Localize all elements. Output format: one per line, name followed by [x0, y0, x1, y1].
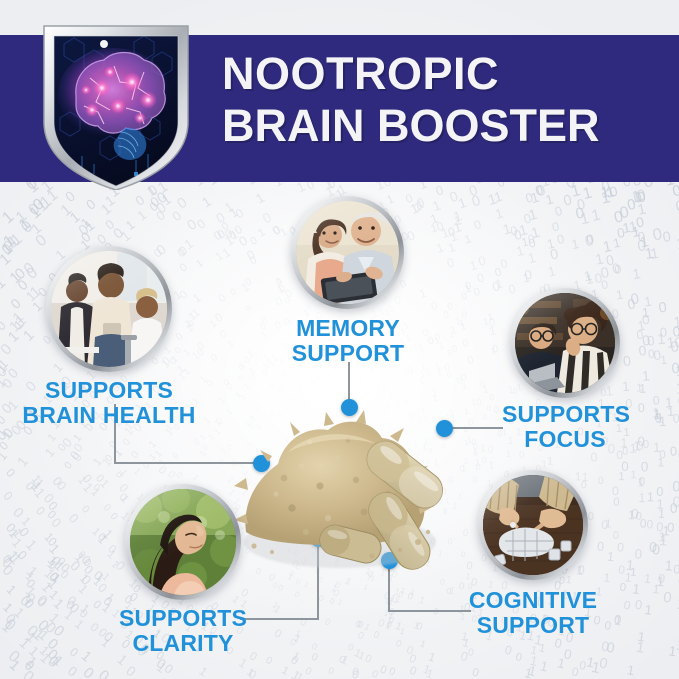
svg-text:1: 1: [78, 648, 94, 665]
svg-text:1: 1: [427, 650, 438, 665]
svg-text:0: 0: [309, 652, 319, 665]
svg-text:1: 1: [20, 327, 38, 345]
svg-text:0: 0: [477, 254, 488, 269]
svg-text:1: 1: [638, 490, 646, 505]
svg-text:0: 0: [171, 451, 181, 461]
svg-text:0: 0: [635, 511, 642, 523]
svg-text:1: 1: [631, 266, 641, 283]
svg-text:0: 0: [563, 646, 573, 662]
hands-assembling-jigsaw-puzzle-photo: [483, 475, 583, 575]
svg-text:1: 1: [324, 369, 333, 380]
svg-text:1: 1: [544, 191, 555, 207]
svg-text:0: 0: [662, 590, 672, 607]
svg-text:1: 1: [656, 497, 664, 512]
svg-text:0: 0: [675, 198, 679, 215]
svg-text:0: 0: [370, 669, 380, 679]
svg-text:0: 0: [667, 520, 675, 535]
svg-text:1: 1: [631, 580, 641, 597]
benefit-label-memory-support: MEMORY SUPPORT: [258, 316, 438, 366]
svg-text:0: 0: [598, 475, 604, 487]
benefit-photo-circle-memory-support[interactable]: [291, 196, 404, 309]
svg-text:0: 0: [634, 546, 643, 562]
svg-text:1: 1: [225, 338, 236, 350]
svg-text:0: 0: [0, 489, 15, 503]
svg-text:1: 1: [675, 363, 679, 380]
svg-text:1: 1: [643, 571, 651, 586]
svg-text:0: 0: [228, 286, 239, 298]
svg-text:1: 1: [546, 236, 557, 252]
svg-text:1: 1: [641, 368, 650, 384]
svg-text:0: 0: [590, 450, 597, 464]
svg-text:1: 1: [436, 367, 443, 378]
svg-text:0: 0: [659, 324, 668, 340]
svg-text:1: 1: [603, 570, 612, 585]
benefit-label-cognitive-support: COGNITIVE SUPPORT: [452, 588, 614, 638]
svg-text:1: 1: [601, 238, 613, 256]
benefit-photo-circle-supports-brain-health[interactable]: [46, 246, 172, 372]
svg-text:1: 1: [675, 380, 679, 397]
svg-text:0: 0: [123, 663, 139, 679]
svg-text:1: 1: [644, 602, 653, 618]
svg-text:1: 1: [675, 234, 679, 253]
svg-text:1: 1: [636, 382, 643, 394]
svg-text:0: 0: [479, 379, 485, 390]
svg-text:1: 1: [630, 469, 636, 481]
svg-text:0: 0: [387, 665, 397, 678]
svg-text:1: 1: [480, 443, 486, 454]
svg-text:0: 0: [634, 597, 643, 613]
svg-text:0: 0: [673, 562, 679, 577]
svg-text:0: 0: [554, 204, 564, 219]
svg-text:1: 1: [664, 558, 673, 575]
svg-text:1: 1: [547, 456, 553, 468]
svg-text:1: 1: [668, 643, 678, 659]
svg-text:1: 1: [313, 371, 322, 382]
svg-text:1: 1: [606, 550, 614, 565]
svg-text:1: 1: [4, 582, 20, 598]
svg-text:1: 1: [363, 621, 372, 632]
svg-text:1: 1: [628, 508, 636, 522]
svg-text:0: 0: [623, 598, 632, 613]
svg-text:1: 1: [135, 207, 150, 223]
svg-text:1: 1: [643, 294, 652, 310]
svg-text:1: 1: [539, 658, 550, 674]
svg-text:0: 0: [462, 528, 469, 540]
svg-text:0: 0: [672, 495, 679, 511]
svg-text:0: 0: [66, 511, 82, 527]
svg-text:1: 1: [493, 205, 504, 221]
svg-text:0: 0: [503, 643, 513, 658]
svg-text:0: 0: [637, 434, 645, 449]
svg-text:0: 0: [471, 665, 481, 679]
svg-text:1: 1: [253, 190, 267, 207]
svg-text:0: 0: [670, 444, 677, 459]
svg-text:0: 0: [672, 323, 679, 340]
svg-text:0: 0: [462, 337, 470, 350]
svg-text:0: 0: [178, 261, 190, 274]
svg-text:0: 0: [648, 540, 657, 557]
svg-text:1: 1: [15, 454, 32, 470]
svg-text:1: 1: [132, 466, 143, 476]
svg-text:1: 1: [194, 258, 205, 270]
svg-text:1: 1: [0, 275, 9, 292]
svg-text:0: 0: [216, 292, 228, 305]
svg-text:1: 1: [418, 287, 428, 301]
svg-text:0: 0: [622, 352, 632, 369]
svg-text:0: 0: [472, 475, 477, 485]
svg-text:1: 1: [42, 445, 57, 459]
svg-text:0: 0: [434, 183, 445, 199]
svg-text:1: 1: [653, 440, 661, 455]
benefit-photo-circle-supports-clarity[interactable]: [125, 484, 241, 600]
svg-text:1: 1: [467, 435, 473, 445]
benefit-supports-focus[interactable]: SUPPORTS FOCUS: [510, 288, 620, 398]
svg-text:0: 0: [670, 338, 679, 356]
svg-text:1: 1: [626, 662, 636, 678]
svg-text:0: 0: [293, 590, 302, 600]
svg-text:1: 1: [463, 233, 473, 246]
svg-text:0: 0: [236, 233, 250, 250]
svg-text:1: 1: [622, 379, 631, 395]
svg-text:0: 0: [598, 656, 609, 673]
svg-text:0: 0: [445, 255, 456, 270]
svg-text:1: 1: [570, 236, 580, 252]
svg-text:1: 1: [613, 613, 623, 629]
svg-text:0: 0: [621, 459, 628, 474]
two-students-studying-photo: [515, 293, 615, 393]
svg-text:0: 0: [63, 460, 75, 472]
svg-text:0: 0: [672, 479, 679, 495]
svg-text:0: 0: [465, 560, 473, 573]
svg-text:0: 0: [601, 518, 609, 532]
svg-text:0: 0: [466, 354, 474, 367]
svg-text:0: 0: [272, 628, 284, 642]
svg-text:1: 1: [526, 250, 537, 266]
svg-text:1: 1: [336, 597, 345, 608]
svg-text:0: 0: [209, 352, 221, 364]
svg-text:0: 0: [303, 666, 313, 679]
svg-text:0: 0: [491, 343, 499, 356]
svg-text:0: 0: [323, 616, 332, 627]
svg-text:1: 1: [217, 395, 228, 407]
svg-text:0: 0: [129, 449, 142, 461]
page-title: NOOTROPIC BRAIN BOOSTER: [222, 48, 662, 152]
svg-text:0: 0: [243, 303, 253, 314]
svg-text:0: 0: [3, 466, 18, 480]
svg-text:1: 1: [656, 410, 665, 426]
svg-text:1: 1: [418, 595, 426, 607]
svg-text:1: 1: [435, 241, 446, 256]
svg-text:1: 1: [637, 475, 644, 489]
benefit-photo-circle-cognitive-support[interactable]: [478, 470, 588, 580]
page-title-line1: NOOTROPIC: [222, 48, 499, 99]
svg-text:0: 0: [133, 192, 148, 209]
svg-text:0: 0: [101, 502, 113, 514]
brain-shield-icon: [40, 22, 192, 190]
woman-breathing-outdoors-photo: [130, 489, 236, 595]
svg-text:1: 1: [458, 318, 466, 330]
svg-text:0: 0: [514, 651, 523, 664]
svg-text:1: 1: [146, 438, 159, 450]
svg-text:0: 0: [174, 331, 186, 343]
svg-text:0: 0: [108, 511, 120, 523]
svg-text:0: 0: [641, 459, 649, 474]
svg-text:0: 0: [218, 328, 229, 340]
benefit-photo-circle-supports-focus[interactable]: [510, 288, 620, 398]
svg-text:1: 1: [196, 664, 210, 679]
svg-text:0: 0: [472, 217, 483, 232]
svg-text:1: 1: [256, 226, 267, 239]
svg-text:0: 0: [372, 629, 382, 641]
svg-text:1: 1: [72, 616, 87, 632]
svg-text:0: 0: [482, 413, 488, 422]
svg-text:0: 0: [482, 455, 487, 465]
benefit-memory-support[interactable]: MEMORY SUPPORT: [291, 196, 404, 309]
svg-text:1: 1: [547, 263, 557, 279]
svg-text:0: 0: [394, 638, 403, 650]
svg-text:1: 1: [419, 638, 427, 650]
svg-text:0: 0: [617, 540, 625, 555]
svg-text:0: 0: [65, 663, 80, 679]
svg-text:0: 0: [653, 347, 662, 363]
benefit-supports-brain-health[interactable]: SUPPORTS BRAIN HEALTH: [46, 246, 172, 372]
benefit-label-supports-clarity: SUPPORTS CLARITY: [107, 606, 259, 656]
infographic-canvas: 0101010010011100011100010111011010100111…: [0, 0, 679, 679]
svg-text:0: 0: [587, 511, 594, 523]
svg-text:0: 0: [475, 270, 485, 285]
svg-text:0: 0: [424, 367, 432, 379]
svg-text:0: 0: [309, 641, 319, 653]
svg-text:1: 1: [464, 407, 469, 416]
svg-text:0: 0: [430, 300, 439, 313]
benefit-cognitive-support[interactable]: COGNITIVE SUPPORT: [478, 470, 588, 580]
svg-text:1: 1: [475, 458, 480, 468]
svg-text:0: 0: [476, 397, 483, 409]
benefit-supports-clarity[interactable]: SUPPORTS CLARITY: [125, 484, 241, 600]
svg-text:0: 0: [80, 664, 97, 679]
svg-text:1: 1: [590, 207, 602, 225]
svg-text:0: 0: [613, 496, 620, 508]
svg-text:1: 1: [657, 455, 664, 469]
svg-text:0: 0: [673, 412, 679, 426]
svg-text:0: 0: [489, 392, 495, 403]
svg-text:1: 1: [541, 459, 547, 470]
svg-text:1: 1: [438, 341, 445, 352]
svg-text:0: 0: [584, 233, 595, 250]
page-title-line2: BRAIN BOOSTER: [222, 100, 662, 152]
svg-text:0: 0: [613, 262, 622, 277]
svg-text:0: 0: [95, 667, 111, 679]
svg-text:0: 0: [83, 196, 98, 213]
svg-text:0: 0: [638, 401, 646, 415]
svg-text:0: 0: [263, 655, 274, 668]
svg-text:1: 1: [656, 574, 665, 590]
svg-text:1: 1: [647, 489, 655, 504]
woman-and-older-man-smiling-photo: [296, 201, 399, 304]
svg-text:0: 0: [487, 404, 493, 413]
svg-text:0: 0: [356, 630, 366, 642]
svg-text:0: 0: [597, 539, 605, 554]
benefit-label-supports-focus: SUPPORTS FOCUS: [502, 402, 628, 452]
svg-text:1: 1: [46, 432, 59, 445]
svg-text:0: 0: [446, 369, 453, 380]
svg-text:0: 0: [488, 445, 494, 456]
svg-text:0: 0: [662, 229, 673, 246]
svg-text:0: 0: [279, 368, 287, 378]
svg-text:0: 0: [327, 665, 337, 677]
svg-text:1: 1: [579, 210, 591, 229]
svg-text:0: 0: [630, 291, 641, 308]
svg-text:1: 1: [280, 664, 291, 677]
svg-text:1: 1: [190, 291, 204, 306]
svg-text:1: 1: [62, 608, 77, 623]
svg-text:0: 0: [658, 300, 668, 317]
product-powder-and-capsules: [232, 382, 462, 582]
svg-text:0: 0: [556, 232, 566, 247]
svg-text:1: 1: [190, 472, 201, 482]
svg-text:1: 1: [487, 311, 495, 323]
svg-text:1: 1: [362, 582, 369, 592]
svg-text:0: 0: [473, 286, 482, 299]
svg-text:0: 0: [646, 517, 654, 531]
svg-text:0: 0: [619, 582, 627, 595]
benefit-label-supports-brain-health: SUPPORTS BRAIN HEALTH: [10, 378, 208, 428]
svg-text:0: 0: [332, 367, 339, 375]
svg-text:1: 1: [199, 193, 214, 211]
svg-text:0: 0: [636, 229, 646, 245]
svg-text:0: 0: [248, 234, 259, 247]
svg-text:0: 0: [493, 404, 500, 416]
group-of-women-in-meeting-photo: [51, 251, 167, 367]
